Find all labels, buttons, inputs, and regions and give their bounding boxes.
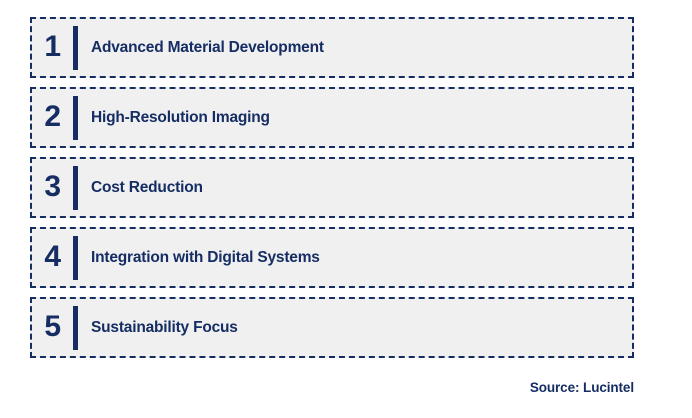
trend-label: Sustainability Focus <box>91 319 632 337</box>
rank-divider <box>73 26 78 70</box>
rank-number: 3 <box>32 172 73 204</box>
rank-number: 5 <box>32 312 73 344</box>
list-item[interactable]: 1 Advanced Material Development <box>30 17 634 78</box>
list-item[interactable]: 4 Integration with Digital Systems <box>30 227 634 288</box>
trend-label: Cost Reduction <box>91 179 632 197</box>
trend-label: Integration with Digital Systems <box>91 249 632 267</box>
trend-list: 1 Advanced Material Development 2 High-R… <box>30 17 634 358</box>
rank-divider <box>73 306 78 350</box>
list-item[interactable]: 3 Cost Reduction <box>30 157 634 218</box>
rank-divider <box>73 236 78 280</box>
rank-number: 2 <box>32 102 73 134</box>
rank-number: 1 <box>32 32 73 64</box>
emerging-trends-infographic: 1 Advanced Material Development 2 High-R… <box>0 0 692 418</box>
trend-label: High-Resolution Imaging <box>91 109 632 127</box>
rank-divider <box>73 166 78 210</box>
rank-divider <box>73 96 78 140</box>
trend-label: Advanced Material Development <box>91 39 632 57</box>
source-attribution: Source: Lucintel <box>530 380 634 395</box>
list-item[interactable]: 5 Sustainability Focus <box>30 297 634 358</box>
list-item[interactable]: 2 High-Resolution Imaging <box>30 87 634 148</box>
rank-number: 4 <box>32 242 73 274</box>
